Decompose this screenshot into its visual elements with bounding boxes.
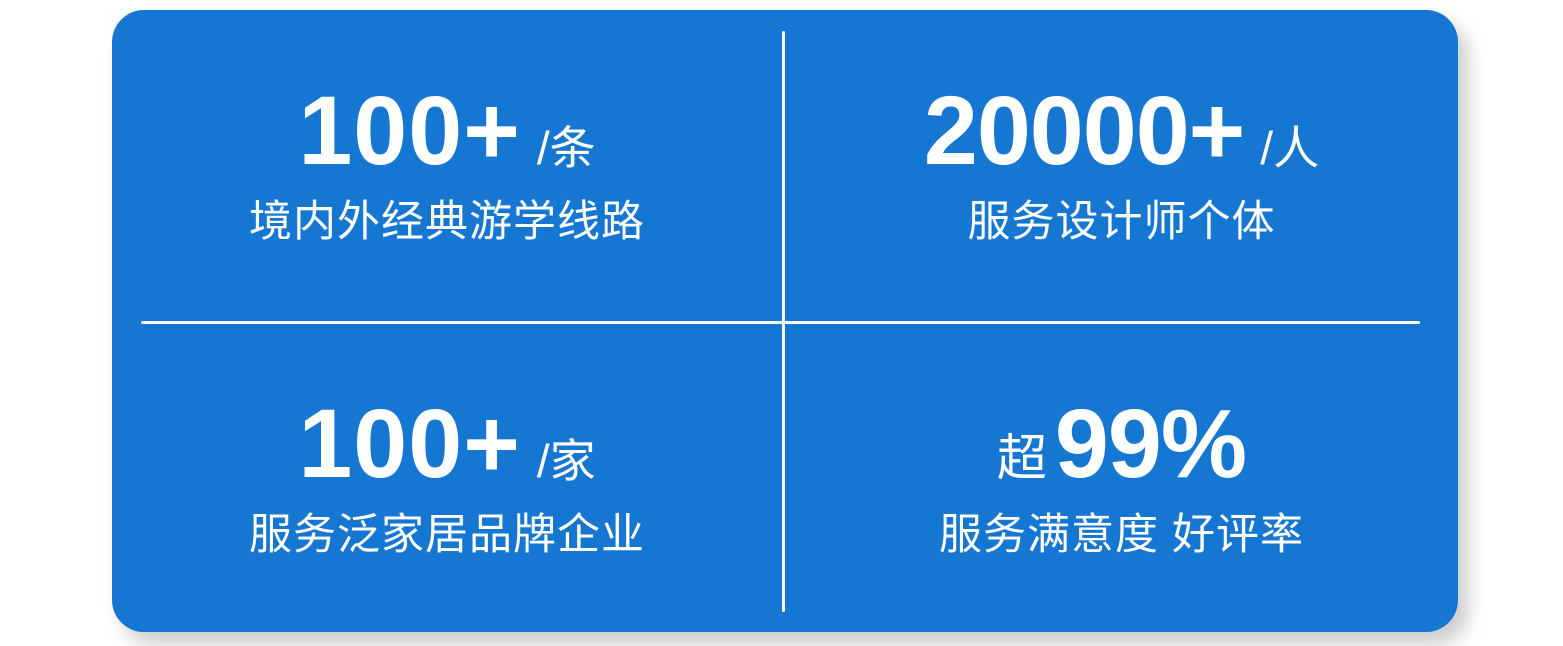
stat-prefix: 超 bbox=[997, 433, 1047, 483]
stat-cell-brands: 100+ /家 服务泛家居品牌企业 bbox=[112, 324, 782, 632]
stat-cell-routes: 100+ /条 境内外经典游学线路 bbox=[112, 10, 782, 321]
stat-cell-designers: 20000+ /人 服务设计师个体 bbox=[785, 10, 1458, 321]
stat-headline: 100+ /家 bbox=[298, 395, 595, 492]
stat-value: 20000+ bbox=[924, 82, 1244, 179]
stat-headline: 100+ /条 bbox=[298, 82, 595, 179]
stat-unit: /家 bbox=[537, 438, 596, 484]
stat-caption: 服务设计师个体 bbox=[968, 197, 1276, 249]
stat-caption: 境内外经典游学线路 bbox=[249, 197, 645, 249]
stat-value: 99% bbox=[1055, 395, 1246, 492]
stat-caption: 服务泛家居品牌企业 bbox=[249, 510, 645, 562]
stat-unit: /条 bbox=[537, 125, 596, 171]
stat-value: 100+ bbox=[298, 395, 521, 492]
stats-card: 100+ /条 境内外经典游学线路 20000+ /人 服务设计师个体 100+… bbox=[112, 10, 1458, 632]
stat-cell-satisfaction: 超 99% 服务满意度 好评率 bbox=[785, 324, 1458, 632]
stat-unit: /人 bbox=[1260, 125, 1319, 171]
stats-banner: 100+ /条 境内外经典游学线路 20000+ /人 服务设计师个体 100+… bbox=[0, 0, 1563, 646]
stat-caption: 服务满意度 好评率 bbox=[939, 510, 1304, 562]
stat-headline: 20000+ /人 bbox=[924, 82, 1319, 179]
stat-headline: 超 99% bbox=[997, 395, 1246, 492]
stat-value: 100+ bbox=[298, 82, 521, 179]
